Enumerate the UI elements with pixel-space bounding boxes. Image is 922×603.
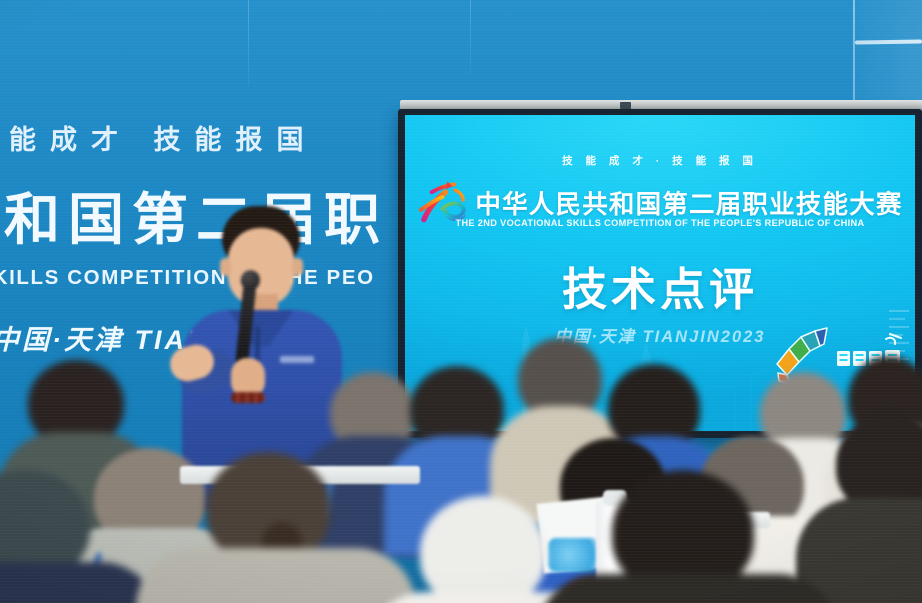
slide-main-title: 技术点评: [405, 253, 915, 318]
photo-scene: 技能成才 技能报国 共和国第二届职 AL SKILLS COMPETITION …: [0, 0, 922, 603]
slide-org-title-cn: 中华人民共和国第二届职业技能大赛: [475, 184, 902, 221]
wall-seam: [470, 0, 471, 74]
wall-seam: [248, 0, 249, 86]
tv-bezel: 技 能 成 才 · 技 能 报 国: [398, 109, 922, 438]
banner-city-year: 中国·天津 TIANJIN2023: [0, 318, 333, 357]
slide-org-title-en: THE 2ND VOCATIONAL SKILLS COMPETITION OF…: [405, 218, 915, 228]
skills-china-tour-logo: [772, 327, 904, 385]
banner-tagline: 技能成才 技能报国: [0, 118, 460, 157]
banner-english: AL SKILLS COMPETITION OF THE PEO: [0, 266, 460, 290]
slide-tagline: 技 能 成 才 · 技 能 报 国: [405, 153, 915, 168]
tv-screen: 技 能 成 才 · 技 能 报 国: [405, 115, 915, 431]
flat-panel-tv: 技 能 成 才 · 技 能 报 国: [398, 100, 922, 438]
banner-title: 共和国第二届职: [0, 175, 460, 256]
background-banner: 技能成才 技能报国 共和国第二届职 AL SKILLS COMPETITION …: [0, 118, 460, 290]
